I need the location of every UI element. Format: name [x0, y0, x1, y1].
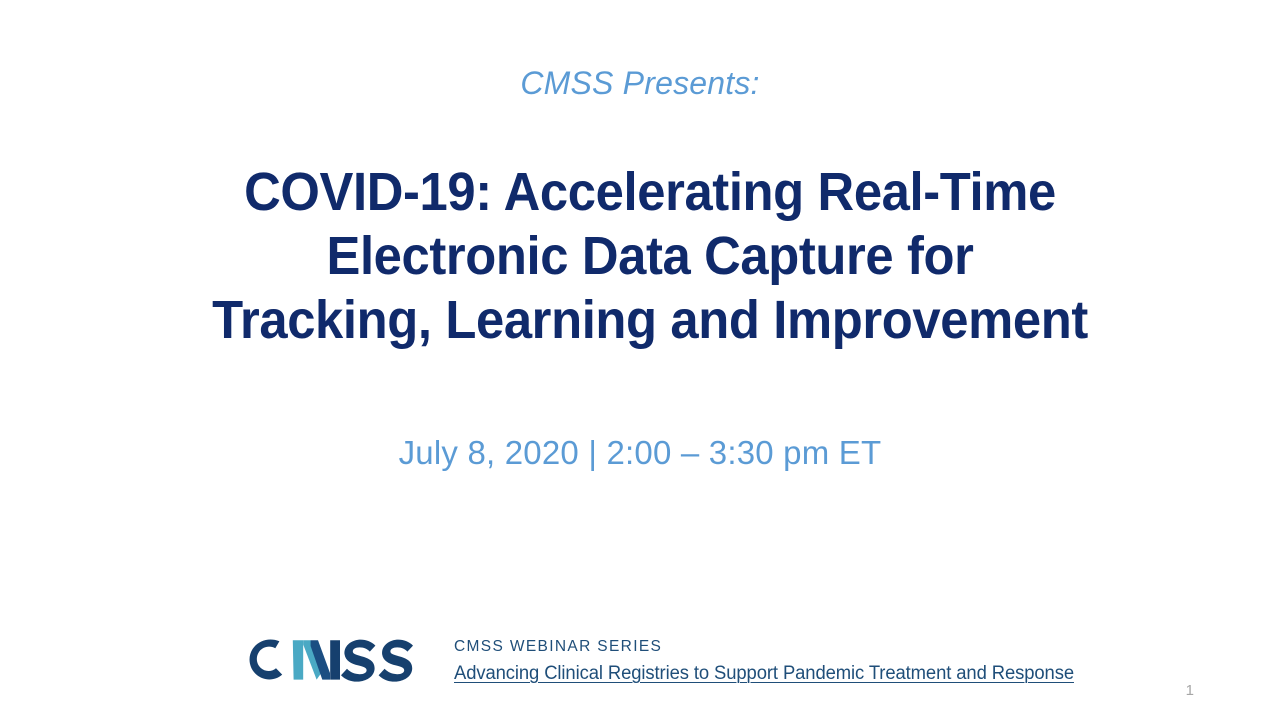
footer-brand-lockup: CMSS WEBINAR SERIES Advancing Clinical R… [246, 630, 1093, 690]
event-datetime: July 8, 2020 | 2:00 – 3:30 pm ET [0, 432, 1280, 474]
webinar-series-label: CMSS WEBINAR SERIES [454, 638, 1093, 656]
cmss-logo-icon [246, 630, 432, 690]
slide-canvas: CMSS Presents: COVID-19: Accelerating Re… [0, 0, 1280, 720]
slide-number: 1 [1186, 682, 1194, 700]
presents-eyebrow: CMSS Presents: [0, 63, 1280, 103]
webinar-series-tagline: Advancing Clinical Registries to Support… [454, 662, 1074, 685]
title-line-2: Electronic Data Capture for [124, 224, 1177, 288]
page-title: COVID-19: Accelerating Real-Time Electro… [90, 160, 1210, 352]
footer-text-group: CMSS WEBINAR SERIES Advancing Clinical R… [454, 636, 1093, 685]
title-line-1: COVID-19: Accelerating Real-Time [124, 160, 1177, 224]
title-line-3: Tracking, Learning and Improvement [124, 288, 1177, 352]
